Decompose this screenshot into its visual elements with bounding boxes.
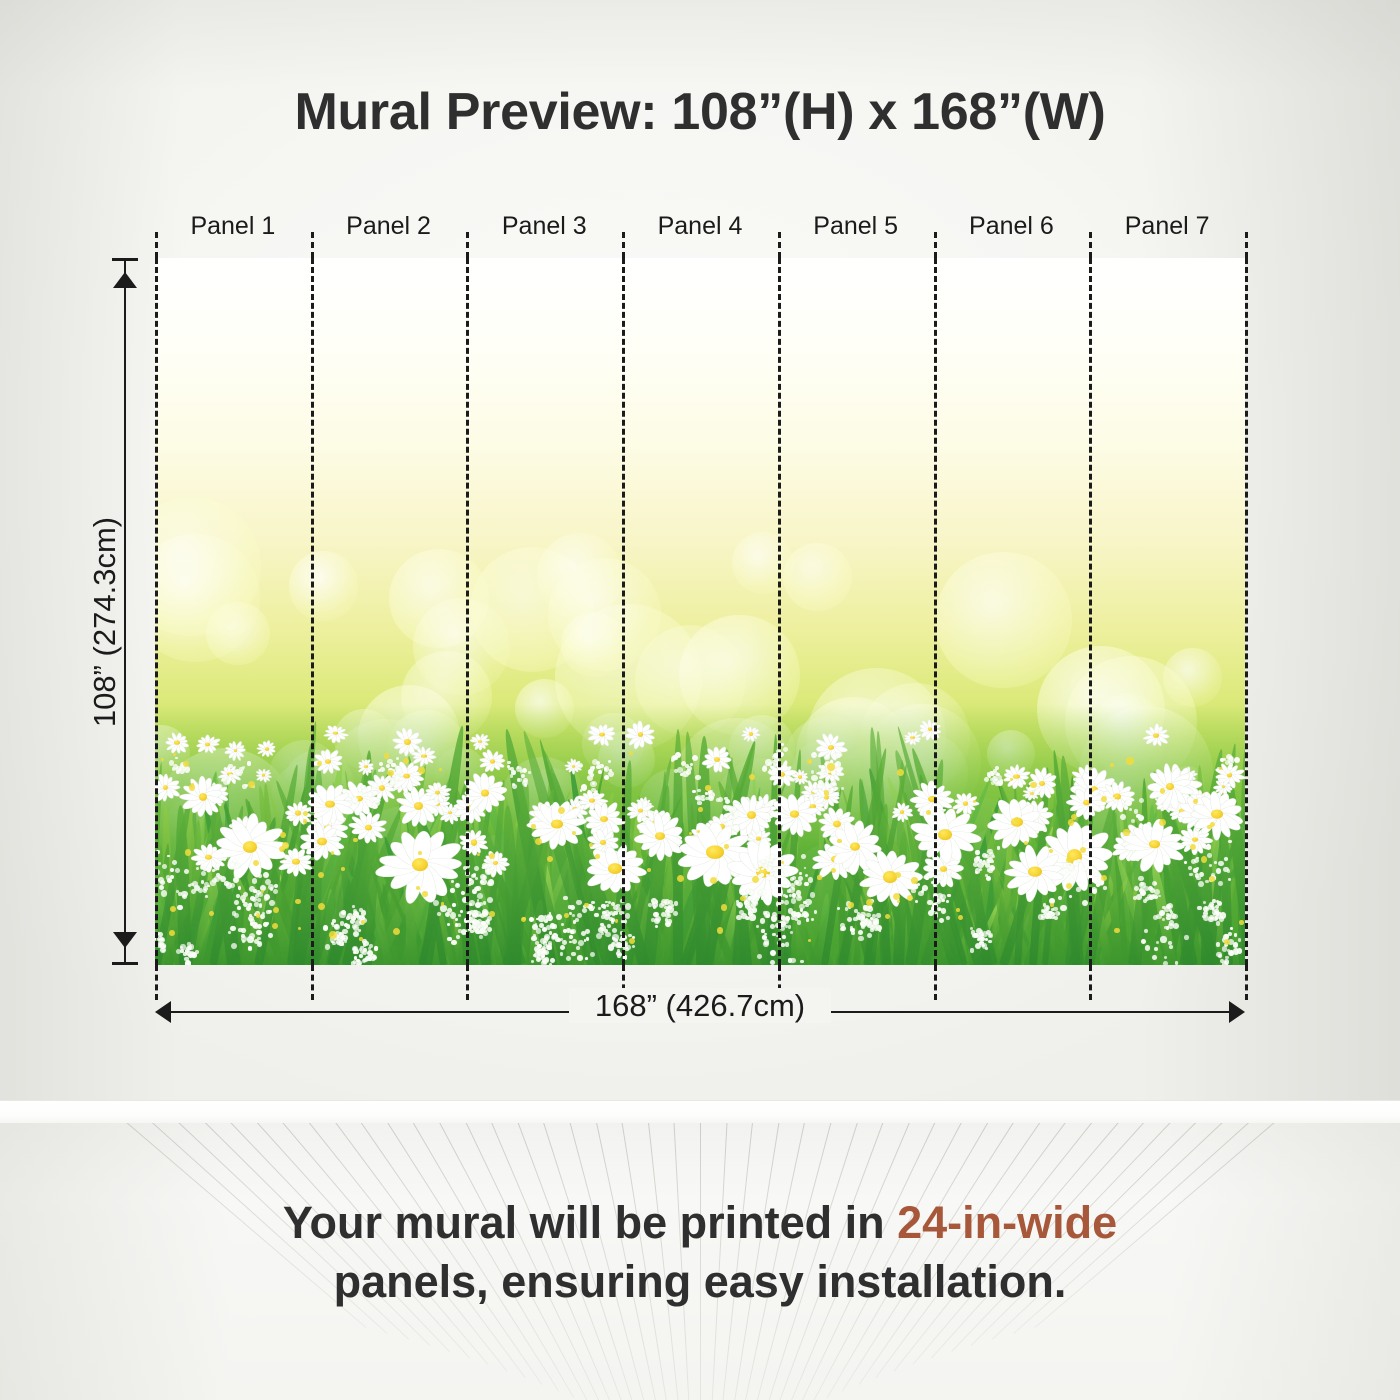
babys-breath-floret	[1223, 867, 1228, 872]
babys-breath-floret	[733, 825, 739, 831]
babys-breath-floret	[481, 921, 486, 926]
daisy-center	[317, 837, 327, 845]
daisy-flower	[769, 791, 821, 839]
babys-breath-floret	[996, 773, 999, 776]
yellow-bud	[1024, 841, 1027, 844]
daisy-flower	[180, 775, 226, 819]
daisy-center	[1211, 810, 1223, 819]
babys-breath-floret	[734, 812, 740, 818]
babys-breath-floret	[570, 929, 576, 935]
babys-breath-floret	[242, 784, 247, 789]
mural-edge-guide-top-left	[155, 232, 158, 258]
yellow-bud	[1207, 825, 1212, 830]
babys-breath-floret	[925, 876, 929, 880]
yellow-bud	[1101, 875, 1107, 881]
babys-breath-floret	[673, 911, 678, 916]
babys-breath-floret	[1060, 905, 1066, 911]
babys-breath-floret	[665, 918, 668, 921]
babys-breath-floret	[1230, 927, 1233, 930]
daisy-center	[205, 743, 210, 747]
daisy-center	[1153, 733, 1159, 738]
babys-breath-floret	[344, 940, 347, 943]
babys-breath-floret	[229, 774, 233, 778]
babys-breath-floret	[740, 805, 743, 808]
babys-breath-floret	[1125, 800, 1131, 806]
babys-breath-floret	[866, 913, 871, 918]
babys-breath-floret	[984, 777, 989, 782]
babys-breath-floret	[788, 925, 792, 929]
babys-breath-floret	[510, 774, 514, 778]
babys-breath-floret	[1097, 879, 1101, 883]
babys-breath-floret	[274, 884, 278, 888]
yellow-bud	[317, 761, 322, 766]
babys-breath-floret	[818, 780, 823, 785]
babys-breath-floret	[183, 952, 186, 955]
babys-breath-floret	[581, 784, 587, 790]
babys-breath-floret	[781, 743, 784, 746]
babys-breath-floret	[612, 913, 615, 916]
babys-breath-floret	[654, 918, 660, 924]
babys-breath-floret	[1136, 814, 1141, 819]
yellow-bud	[615, 919, 618, 922]
babys-breath-floret	[479, 935, 483, 939]
babys-breath-floret	[947, 870, 951, 874]
babys-breath-floret	[247, 936, 253, 942]
babys-breath-floret	[170, 868, 174, 872]
babys-breath-cluster	[1130, 873, 1160, 903]
babys-breath-floret	[814, 910, 817, 913]
babys-breath-floret	[1184, 935, 1188, 939]
babys-breath-floret	[510, 767, 514, 771]
babys-breath-floret	[781, 765, 787, 771]
babys-breath-floret	[792, 876, 796, 880]
babys-breath-floret	[342, 929, 347, 934]
yellow-bud	[697, 830, 700, 833]
daisy-center	[325, 759, 331, 764]
babys-breath-cluster	[1212, 748, 1239, 775]
babys-breath-floret	[182, 894, 187, 899]
babys-breath-floret	[1202, 915, 1205, 918]
babys-breath-floret	[1206, 847, 1209, 850]
babys-breath-floret	[396, 768, 402, 774]
babys-breath-floret	[191, 889, 196, 894]
yellow-bud	[1010, 778, 1013, 781]
babys-breath-floret	[667, 905, 672, 910]
babys-breath-floret	[368, 792, 373, 797]
daisy-center	[900, 810, 904, 813]
babys-breath-floret	[536, 928, 542, 934]
babys-breath-floret	[762, 766, 768, 772]
babys-breath-floret	[368, 947, 371, 950]
babys-breath-floret	[997, 780, 1003, 786]
babys-breath-floret	[332, 919, 336, 923]
yellow-bud	[837, 839, 842, 844]
babys-breath-floret	[233, 877, 239, 883]
daisy-flower	[155, 773, 181, 803]
babys-breath-floret	[230, 926, 236, 932]
page-title: Mural Preview: 108”(H) x 168”(W)	[0, 82, 1400, 142]
yellow-bud	[422, 891, 427, 896]
babys-breath-floret	[487, 897, 493, 903]
babys-breath-floret	[1038, 914, 1043, 919]
babys-breath-floret	[1163, 961, 1168, 965]
babys-breath-floret	[1124, 806, 1129, 811]
daisy-center	[551, 820, 563, 829]
babys-breath-floret	[718, 797, 723, 802]
daisy-flower	[1002, 764, 1032, 789]
babys-breath-cluster	[851, 905, 882, 936]
babys-breath-cluster	[666, 749, 701, 784]
babys-breath-floret	[596, 765, 600, 769]
mural-artwork	[155, 258, 1245, 965]
babys-breath-floret	[332, 942, 336, 946]
babys-breath-floret	[1054, 916, 1058, 920]
babys-breath-floret	[692, 790, 696, 794]
babys-breath-cluster	[644, 891, 678, 925]
babys-breath-floret	[672, 755, 677, 760]
babys-breath-floret	[263, 872, 269, 878]
daisy-flower	[624, 720, 656, 751]
babys-breath-floret	[608, 760, 612, 764]
babys-breath-floret	[529, 917, 534, 922]
babys-breath-floret	[576, 946, 580, 950]
babys-breath-floret	[198, 888, 203, 893]
yellow-bud	[295, 899, 300, 904]
babys-breath-floret	[477, 931, 481, 935]
babys-breath-floret	[625, 903, 631, 909]
babys-breath-floret	[520, 770, 523, 773]
babys-breath-floret	[475, 877, 478, 880]
babys-breath-floret	[692, 755, 698, 761]
mural-edge-guide-right	[1245, 258, 1248, 965]
babys-breath-floret	[482, 911, 488, 917]
babys-breath-floret	[594, 913, 599, 918]
babys-breath-floret	[268, 933, 273, 938]
yellow-bud	[531, 824, 536, 829]
babys-breath-floret	[686, 769, 692, 775]
babys-breath-floret	[175, 757, 178, 760]
babys-breath-floret	[937, 893, 943, 899]
babys-breath-floret	[352, 905, 355, 908]
babys-breath-floret	[667, 913, 670, 916]
babys-breath-floret	[1076, 887, 1080, 891]
yellow-bud	[824, 790, 829, 795]
babys-breath-floret	[452, 903, 456, 907]
height-tick-top	[112, 258, 138, 261]
babys-breath-floret	[231, 943, 237, 949]
babys-breath-cluster	[1178, 833, 1235, 890]
babys-breath-floret	[581, 931, 586, 936]
babys-breath-floret	[585, 957, 588, 960]
babys-breath-floret	[825, 783, 830, 788]
babys-breath-floret	[790, 931, 793, 934]
babys-breath-floret	[175, 766, 181, 772]
babys-breath-floret	[1228, 878, 1231, 881]
panel-seam-6	[1089, 258, 1092, 965]
babys-breath-floret	[563, 929, 567, 933]
babys-breath-floret	[811, 918, 815, 922]
babys-breath-floret	[1219, 916, 1225, 922]
babys-breath-floret	[216, 863, 220, 867]
babys-breath-floret	[396, 757, 399, 760]
panel-label-7: Panel 7	[1089, 212, 1245, 241]
babys-breath-floret	[927, 900, 933, 906]
babys-breath-floret	[372, 783, 377, 788]
babys-breath-floret	[1133, 896, 1137, 900]
babys-breath-floret	[1094, 873, 1097, 876]
babys-breath-floret	[1225, 760, 1230, 765]
babys-breath-floret	[1168, 941, 1172, 945]
babys-breath-floret	[379, 762, 383, 766]
daisy-center	[638, 732, 644, 736]
yellow-bud	[584, 903, 589, 908]
babys-breath-floret	[1233, 948, 1239, 954]
babys-breath-floret	[517, 778, 521, 782]
yellow-bud	[893, 893, 900, 900]
babys-breath-floret	[659, 903, 664, 908]
babys-breath-floret	[653, 905, 656, 908]
panel-label-4: Panel 4	[622, 212, 778, 241]
babys-breath-cluster	[1210, 926, 1245, 965]
babys-breath-floret	[753, 901, 758, 906]
babys-breath-floret	[341, 943, 344, 946]
daisy-center	[403, 773, 410, 778]
babys-breath-floret	[522, 780, 528, 786]
babys-breath-floret	[268, 884, 274, 890]
babys-breath-floret	[544, 919, 548, 923]
babys-breath-floret	[674, 901, 678, 905]
babys-breath-floret	[987, 773, 990, 776]
panel-seam-5	[934, 258, 937, 965]
babys-breath-floret	[354, 956, 357, 959]
yellow-bud	[897, 769, 904, 776]
bokeh-circle	[289, 551, 358, 620]
babys-breath-floret	[1216, 921, 1220, 925]
babys-breath-floret	[258, 874, 262, 878]
babys-breath-floret	[736, 915, 741, 920]
babys-breath-floret	[789, 894, 793, 898]
yellow-bud	[329, 931, 336, 938]
babys-breath-cluster	[711, 793, 747, 829]
yellow-bud	[1239, 920, 1243, 924]
yellow-bud	[1030, 782, 1036, 788]
yellow-bud	[1014, 817, 1020, 823]
yellow-bud	[522, 917, 525, 920]
babys-breath-floret	[232, 779, 236, 783]
babys-breath-floret	[196, 867, 199, 870]
babys-breath-floret	[697, 789, 701, 793]
daisy-flower	[423, 781, 452, 805]
babys-breath-cluster	[1151, 900, 1179, 928]
daisy-center	[1013, 774, 1019, 778]
babys-breath-floret	[203, 867, 207, 871]
babys-breath-floret	[770, 950, 776, 956]
babys-breath-floret	[546, 925, 551, 930]
babys-breath-floret	[625, 913, 630, 918]
daisy-center	[199, 793, 208, 801]
babys-breath-floret	[358, 792, 362, 796]
babys-breath-floret	[616, 907, 621, 912]
yellow-bud	[1219, 767, 1222, 770]
yellow-bud	[1080, 847, 1086, 853]
yellow-bud	[956, 908, 960, 912]
babys-breath-floret	[1218, 954, 1222, 958]
babys-breath-floret	[176, 949, 181, 954]
babys-breath-floret	[997, 846, 1001, 850]
babys-breath-floret	[226, 882, 232, 888]
babys-breath-floret	[591, 788, 595, 792]
panel-label-6: Panel 6	[934, 212, 1090, 241]
babys-breath-floret	[612, 934, 618, 940]
babys-breath-floret	[690, 763, 693, 766]
babys-breath-floret	[561, 923, 564, 926]
babys-breath-floret	[800, 960, 804, 964]
daisy-center	[1149, 840, 1160, 847]
babys-breath-floret	[373, 791, 378, 796]
babys-breath-floret	[858, 936, 864, 942]
width-dimension-text: 168” (426.7cm)	[569, 988, 831, 1023]
babys-breath-floret	[521, 774, 525, 778]
babys-breath-floret	[799, 904, 804, 909]
babys-breath-floret	[1164, 956, 1168, 960]
daisy-center	[1028, 867, 1041, 877]
babys-breath-floret	[819, 771, 824, 776]
babys-breath-floret	[378, 769, 381, 772]
babys-breath-floret	[970, 948, 974, 952]
daisy-center	[333, 732, 337, 735]
babys-breath-floret	[770, 960, 775, 965]
babys-breath-floret	[1224, 857, 1228, 861]
babys-breath-floret	[1103, 886, 1107, 890]
babys-breath-floret	[769, 769, 772, 772]
babys-breath-floret	[543, 941, 547, 945]
babys-breath-floret	[472, 874, 475, 877]
babys-breath-floret	[811, 770, 814, 773]
yellow-bud	[848, 902, 853, 907]
babys-breath-cluster	[155, 844, 182, 893]
babys-breath-floret	[201, 880, 204, 883]
babys-breath-floret	[785, 895, 788, 898]
babys-breath-floret	[1172, 914, 1178, 920]
babys-breath-floret	[159, 885, 164, 890]
yellow-bud	[170, 906, 176, 912]
babys-breath-floret	[926, 869, 929, 872]
babys-breath-floret	[973, 933, 978, 938]
babys-breath-floret	[571, 952, 575, 956]
babys-breath-floret	[975, 943, 981, 949]
daisy-flower	[470, 732, 491, 750]
babys-breath-floret	[1228, 840, 1232, 844]
bokeh-circle	[935, 552, 1071, 688]
mural-edge-guide-top-right	[1245, 232, 1248, 258]
babys-breath-floret	[790, 883, 795, 888]
babys-breath-floret	[162, 864, 167, 869]
babys-breath-floret	[512, 783, 515, 786]
footer-line-1: Your mural will be printed in 24-in-wide	[0, 1193, 1400, 1252]
babys-breath-floret	[456, 935, 460, 939]
babys-breath-floret	[1175, 961, 1179, 965]
babys-breath-cluster	[527, 898, 577, 948]
babys-breath-floret	[242, 940, 245, 943]
babys-breath-floret	[756, 870, 759, 873]
daisy-flower	[194, 734, 221, 755]
babys-breath-floret	[1096, 883, 1100, 887]
yellow-bud	[831, 868, 836, 873]
yellow-bud	[169, 930, 175, 936]
babys-breath-floret	[367, 957, 371, 961]
yellow-bud	[489, 911, 495, 917]
babys-breath-floret	[737, 902, 743, 908]
babys-breath-floret	[234, 865, 237, 868]
babys-breath-floret	[782, 935, 786, 939]
daisy-flower	[164, 731, 190, 754]
babys-breath-floret	[264, 894, 270, 900]
babys-breath-floret	[334, 924, 340, 930]
babys-breath-floret	[549, 963, 552, 965]
daisy-center	[790, 811, 799, 817]
babys-breath-floret	[783, 747, 788, 752]
footer-note: Your mural will be printed in 24-in-wide…	[0, 1193, 1400, 1312]
babys-breath-floret	[757, 954, 762, 959]
daisy-flower	[701, 745, 733, 775]
yellow-bud	[717, 927, 724, 934]
babys-breath-floret	[1139, 798, 1144, 803]
babys-breath-floret	[228, 931, 231, 934]
babys-breath-floret	[1114, 799, 1117, 802]
babys-breath-floret	[946, 916, 950, 920]
babys-breath-floret	[836, 767, 842, 773]
yellow-bud	[807, 759, 811, 763]
babys-breath-floret	[323, 925, 329, 931]
yellow-bud	[1068, 819, 1074, 825]
babys-breath-floret	[764, 933, 767, 936]
babys-breath-floret	[228, 764, 232, 768]
babys-breath-floret	[785, 942, 789, 946]
babys-breath-floret	[1234, 933, 1237, 936]
babys-breath-floret	[911, 889, 915, 893]
yellow-bud	[911, 877, 917, 883]
babys-breath-floret	[856, 915, 861, 920]
babys-breath-floret	[223, 779, 229, 785]
babys-breath-floret	[577, 955, 583, 961]
babys-breath-floret	[246, 906, 251, 911]
yellow-bud	[393, 928, 400, 935]
yellow-bud	[361, 920, 365, 924]
babys-breath-floret	[1216, 942, 1220, 946]
babys-breath-floret	[836, 753, 841, 758]
babys-breath-floret	[256, 930, 262, 936]
babys-breath-floret	[1218, 861, 1223, 866]
babys-breath-floret	[273, 889, 278, 894]
babys-breath-floret	[359, 954, 363, 958]
babys-breath-floret	[433, 900, 439, 906]
babys-breath-floret	[363, 958, 368, 963]
panel-guide-top-6	[1089, 232, 1092, 258]
babys-breath-floret	[395, 775, 399, 779]
babys-breath-floret	[582, 908, 587, 913]
footer-line1-before: Your mural will be printed in	[283, 1197, 897, 1248]
yellow-bud	[1126, 757, 1133, 764]
panel-guide-top-1	[311, 232, 314, 258]
babys-breath-floret	[915, 900, 918, 903]
babys-breath-floret	[1162, 918, 1165, 921]
daisy-center	[608, 863, 622, 874]
babys-breath-floret	[1238, 938, 1242, 942]
yellow-bud	[253, 860, 259, 866]
babys-breath-floret	[1189, 873, 1193, 877]
daisy-center	[364, 765, 367, 768]
yellow-bud	[1110, 763, 1114, 767]
